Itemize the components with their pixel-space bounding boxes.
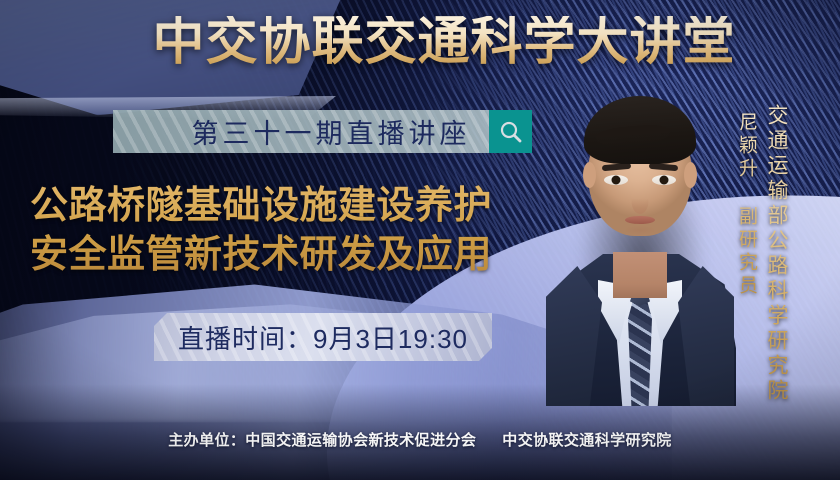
poster-main-title: 中交协联交通科学大讲堂 bbox=[0, 16, 840, 68]
headline-line-2: 安全监管新技术研发及应用 bbox=[30, 231, 582, 280]
search-button[interactable] bbox=[489, 110, 532, 153]
portrait-eye-right bbox=[652, 175, 676, 185]
portrait-nose bbox=[632, 188, 649, 214]
live-lecture-poster: 中交协联交通科学大讲堂 第三十一期直播讲座 公路桥隧基础设施建设养护 安全监管新… bbox=[0, 0, 840, 480]
headline-line-1: 公路桥隧基础设施建设养护 bbox=[30, 182, 582, 231]
organizer-footer: 主办单位：中国交通运输协会新技术促进分会中交协联交通科学研究院 bbox=[0, 429, 840, 450]
portrait-neck bbox=[613, 252, 667, 298]
episode-bar: 第三十一期直播讲座 bbox=[113, 110, 532, 153]
portrait-ear-right bbox=[684, 162, 697, 188]
broadcast-time-label: 直播时间：9月3日19:30 bbox=[178, 319, 468, 356]
portrait-chin bbox=[617, 226, 663, 240]
portrait-eye-left bbox=[604, 175, 628, 185]
portrait-ear-left bbox=[583, 162, 596, 188]
portrait-necktie bbox=[628, 294, 652, 406]
lecture-headline: 公路桥隧基础设施建设养护 安全监管新技术研发及应用 bbox=[30, 182, 582, 281]
speaker-name-title: 尼颖升 副研究员 bbox=[733, 112, 760, 298]
portrait-mouth bbox=[625, 216, 655, 224]
broadcast-time-badge: 直播时间：9月3日19:30 bbox=[154, 313, 492, 361]
organizer-prefix: 主办单位：中国交通运输协会新技术促进分会 bbox=[168, 432, 476, 449]
speaker-organization: 交通运输部公路科学研究院 bbox=[761, 104, 791, 404]
organizer-suffix: 中交协联交通科学研究院 bbox=[502, 432, 671, 449]
episode-label: 第三十一期直播讲座 bbox=[132, 112, 471, 151]
search-icon bbox=[498, 119, 524, 145]
episode-bar-body: 第三十一期直播讲座 bbox=[113, 110, 489, 153]
